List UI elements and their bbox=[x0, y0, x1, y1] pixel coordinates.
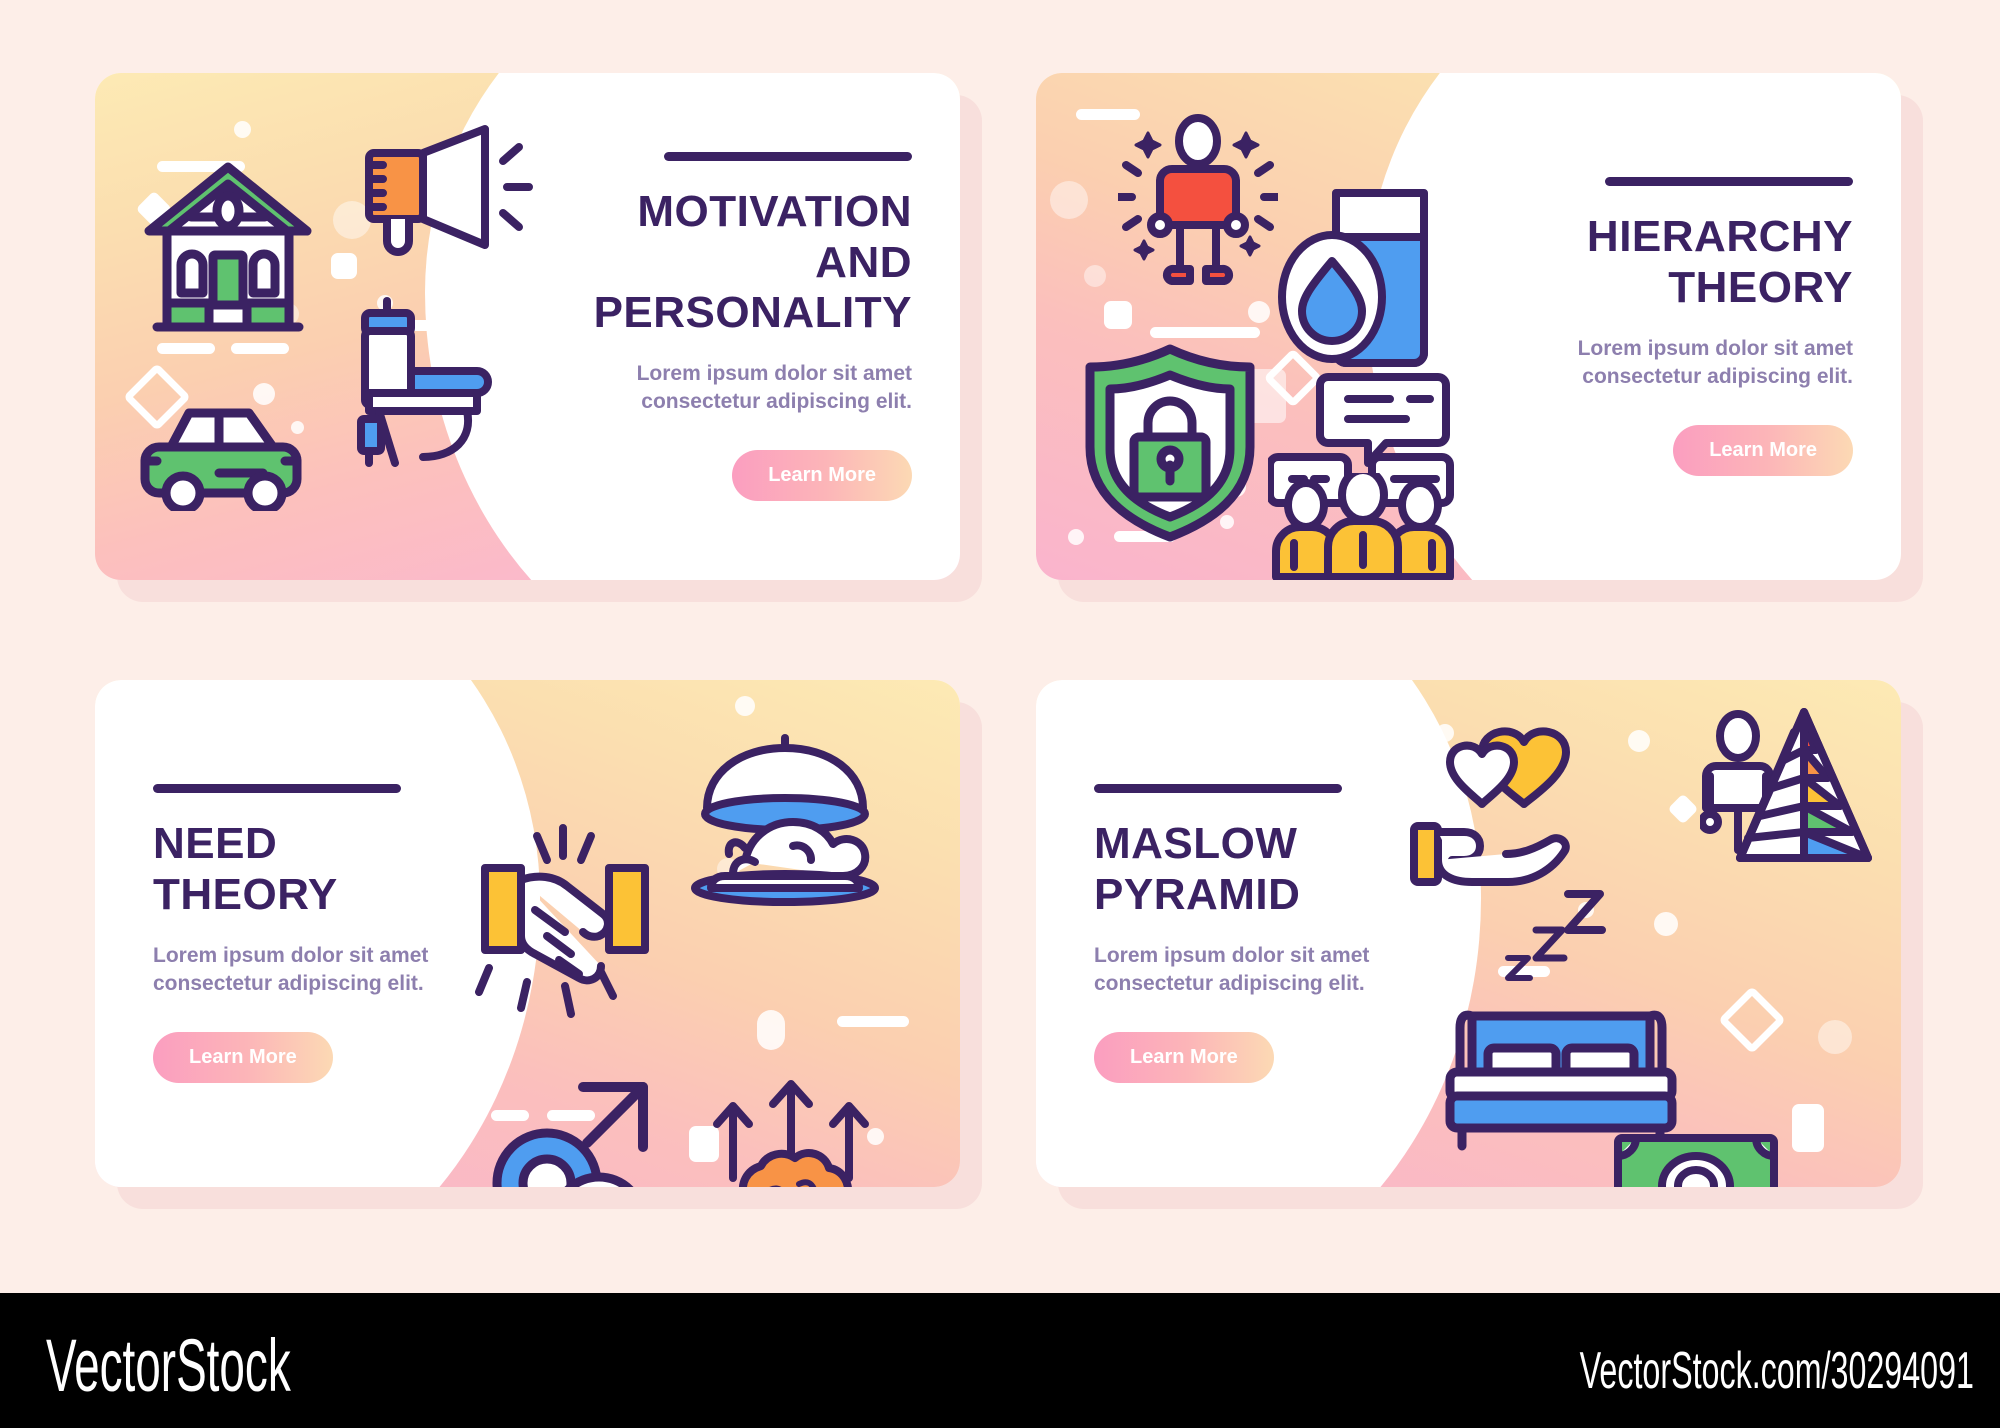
card-subtitle: Lorem ipsum dolor sit amet consectetur a… bbox=[637, 360, 912, 416]
decor-dot bbox=[757, 1010, 785, 1050]
card-title: NEED THEORY bbox=[153, 819, 338, 919]
card-title: MASLOW PYRAMID bbox=[1094, 819, 1300, 919]
car-icon bbox=[131, 399, 311, 511]
learn-more-button[interactable]: Learn More bbox=[732, 450, 912, 501]
learn-more-button[interactable]: Learn More bbox=[153, 1032, 333, 1083]
title-line: THEORY bbox=[153, 870, 338, 919]
title-line: THEORY bbox=[1668, 263, 1853, 312]
card-title: HIERARCHY THEORY bbox=[1587, 212, 1853, 312]
brain-growth-icon bbox=[703, 1072, 883, 1187]
footer-url: VectorStock.com/30294091 bbox=[1580, 1341, 1974, 1401]
learn-more-button[interactable]: Learn More bbox=[1673, 425, 1853, 476]
card-title: MOTIVATION AND PERSONALITY bbox=[552, 187, 912, 337]
decor-dot bbox=[1628, 730, 1650, 752]
decor-dot bbox=[1248, 301, 1270, 323]
decor-dot bbox=[1654, 912, 1678, 936]
card-hierarchy-theory[interactable]: HIERARCHY THEORY Lorem ipsum dolor sit a… bbox=[1036, 73, 1901, 580]
shield-lock-icon bbox=[1078, 341, 1262, 543]
decor-dot bbox=[234, 121, 251, 138]
footer-watermark-bar: VectorStock VectorStock.com/30294091 bbox=[0, 1293, 2000, 1428]
subtitle-line: Lorem ipsum dolor sit amet bbox=[1094, 944, 1369, 967]
title-line: MASLOW bbox=[1094, 819, 1297, 868]
footer-brand: VectorStock bbox=[46, 1323, 291, 1408]
subtitle-line: Lorem ipsum dolor sit amet bbox=[153, 944, 428, 967]
title-rule bbox=[664, 152, 912, 161]
person-shining-icon bbox=[1118, 113, 1278, 293]
card-motivation-and-personality[interactable]: MOTIVATION AND PERSONALITY Lorem ipsum d… bbox=[95, 73, 960, 580]
hand-money-icon bbox=[1608, 1130, 1858, 1187]
card-text-block: MOTIVATION AND PERSONALITY Lorem ipsum d… bbox=[552, 73, 912, 580]
subtitle-line: consectetur adipiscing elit. bbox=[1094, 972, 1365, 995]
subtitle-line: consectetur adipiscing elit. bbox=[1582, 365, 1853, 388]
title-rule bbox=[153, 784, 401, 793]
person-pyramid-icon bbox=[1700, 708, 1890, 883]
card-text-block: HIERARCHY THEORY Lorem ipsum dolor sit a… bbox=[1493, 73, 1853, 580]
card-subtitle: Lorem ipsum dolor sit amet consectetur a… bbox=[1578, 335, 1853, 391]
sleep-zzz-icon bbox=[1498, 888, 1618, 988]
decor-square bbox=[1104, 301, 1132, 329]
decor-dot bbox=[1084, 265, 1106, 287]
water-glass-icon bbox=[1274, 185, 1434, 385]
decor-square bbox=[331, 253, 357, 279]
subtitle-line: consectetur adipiscing elit. bbox=[153, 972, 424, 995]
title-rule bbox=[1605, 177, 1853, 186]
poster-canvas: MOTIVATION AND PERSONALITY Lorem ipsum d… bbox=[0, 0, 2000, 1428]
card-text-block: MASLOW PYRAMID Lorem ipsum dolor sit ame… bbox=[1094, 680, 1454, 1187]
subtitle-line: Lorem ipsum dolor sit amet bbox=[1578, 337, 1853, 360]
subtitle-line: Lorem ipsum dolor sit amet bbox=[637, 362, 912, 385]
subtitle-line: consectetur adipiscing elit. bbox=[641, 390, 912, 413]
card-maslow-pyramid[interactable]: MASLOW PYRAMID Lorem ipsum dolor sit ame… bbox=[1036, 680, 1901, 1187]
title-line: PERSONALITY bbox=[594, 288, 912, 337]
house-icon bbox=[139, 153, 317, 353]
decor-dot bbox=[1050, 181, 1088, 219]
card-need-theory[interactable]: NEED THEORY Lorem ipsum dolor sit amet c… bbox=[95, 680, 960, 1187]
decor-dot bbox=[1818, 1020, 1852, 1054]
card-subtitle: Lorem ipsum dolor sit amet consectetur a… bbox=[153, 942, 428, 998]
learn-more-button[interactable]: Learn More bbox=[1094, 1032, 1274, 1083]
food-cloche-chicken-icon bbox=[685, 722, 890, 922]
toilet-icon bbox=[343, 295, 503, 470]
title-rule bbox=[1094, 784, 1342, 793]
title-line: MOTIVATION AND bbox=[637, 187, 912, 286]
card-text-block: NEED THEORY Lorem ipsum dolor sit amet c… bbox=[153, 680, 513, 1187]
decor-dot bbox=[735, 696, 755, 716]
megaphone-icon bbox=[357, 121, 537, 269]
title-line: NEED bbox=[153, 819, 277, 868]
group-people-icon bbox=[1268, 473, 1458, 580]
decor-bar bbox=[837, 1016, 909, 1027]
title-line: PYRAMID bbox=[1094, 870, 1300, 919]
decor-bar bbox=[1150, 327, 1260, 338]
card-subtitle: Lorem ipsum dolor sit amet consectetur a… bbox=[1094, 942, 1369, 998]
title-line: HIERARCHY bbox=[1587, 212, 1853, 261]
